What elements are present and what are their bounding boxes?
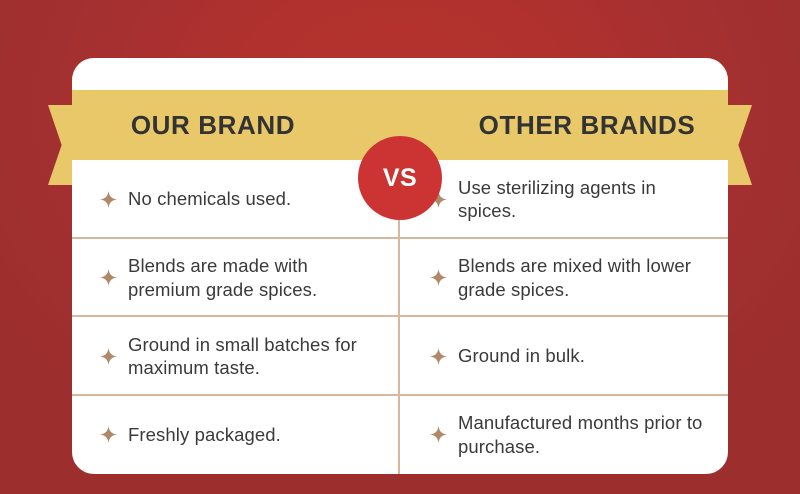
comparison-cell-theirs-3: Ground in bulk.: [400, 317, 728, 396]
sparkle-icon: [430, 426, 447, 443]
comparison-card: OUR BRAND OTHER BRANDS No chemicals used…: [72, 58, 728, 474]
header-right: OTHER BRANDS: [400, 90, 728, 160]
sparkle-icon: [430, 348, 447, 365]
sparkle-icon: [100, 191, 117, 208]
comparison-cell-ours-3: Ground in small batches for maximum tast…: [72, 317, 400, 396]
infographic-canvas: OUR BRAND OTHER BRANDS No chemicals used…: [0, 0, 800, 494]
comparison-cell-ours-4: Freshly packaged.: [72, 396, 400, 475]
sparkle-icon: [430, 269, 447, 286]
comparison-text: Manufactured months prior to purchase.: [458, 411, 706, 458]
other-brands-title: OTHER BRANDS: [479, 110, 696, 141]
comparison-text: Blends are made with premium grade spice…: [128, 254, 378, 301]
sparkle-icon: [100, 426, 117, 443]
comparison-text: Use sterilizing agents in spices.: [458, 176, 706, 223]
comparison-text: No chemicals used.: [128, 187, 291, 211]
comparison-text: Ground in small batches for maximum tast…: [128, 333, 378, 380]
header-left: OUR BRAND: [72, 90, 400, 160]
sparkle-icon: [100, 348, 117, 365]
comparison-cell-theirs-4: Manufactured months prior to purchase.: [400, 396, 728, 475]
our-brand-title: OUR BRAND: [131, 110, 295, 141]
comparison-cell-theirs-2: Blends are mixed with lower grade spices…: [400, 239, 728, 318]
comparison-cell-ours-2: Blends are made with premium grade spice…: [72, 239, 400, 318]
comparison-text: Blends are mixed with lower grade spices…: [458, 254, 706, 301]
vs-label: VS: [383, 164, 417, 193]
vs-badge: VS: [358, 136, 442, 220]
comparison-text: Ground in bulk.: [458, 344, 585, 368]
comparison-text: Freshly packaged.: [128, 423, 281, 447]
sparkle-icon: [100, 269, 117, 286]
comparison-cell-ours-1: No chemicals used.: [72, 160, 400, 239]
comparison-cell-theirs-1: Use sterilizing agents in spices.: [400, 160, 728, 239]
